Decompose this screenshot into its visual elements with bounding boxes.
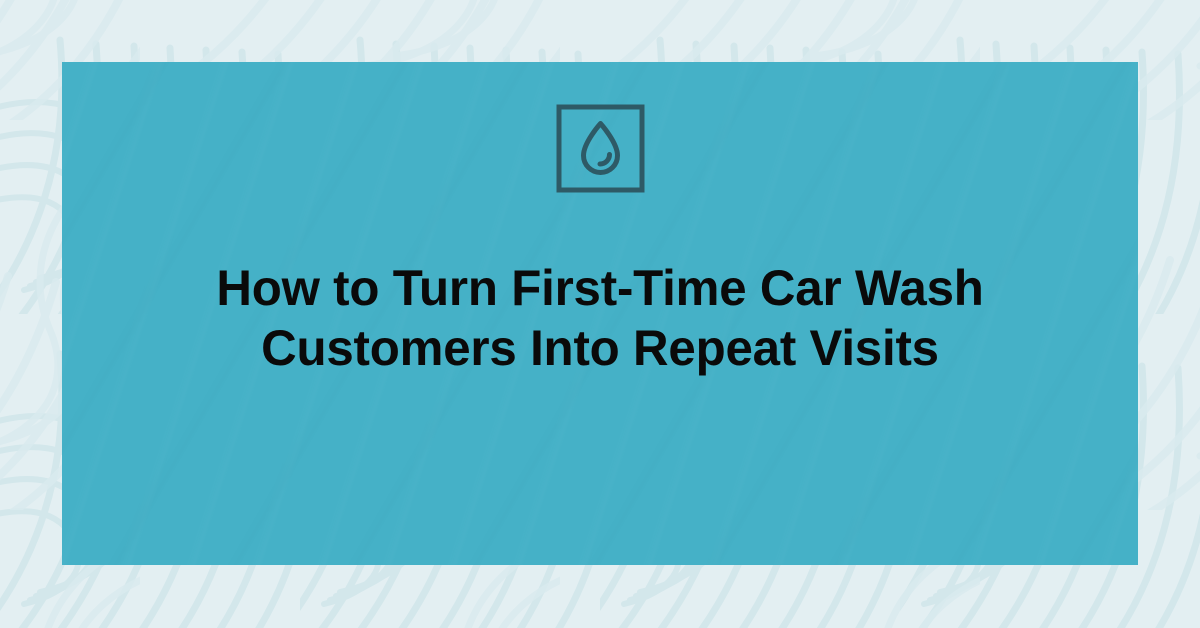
page-title-line-2: Customers Into Repeat Visits — [139, 318, 1061, 378]
page-title: How to Turn First-Time Car Wash Customer… — [62, 258, 1138, 378]
icon-block — [62, 104, 1138, 193]
droplet-inner-arc-icon — [600, 155, 610, 165]
teal-content-panel: How to Turn First-Time Car Wash Customer… — [62, 62, 1138, 565]
square-outline-icon — [559, 107, 642, 190]
panel-inner: How to Turn First-Time Car Wash Customer… — [62, 62, 1138, 565]
water-droplet-in-square-icon — [556, 104, 645, 193]
social-card-canvas: How to Turn First-Time Car Wash Customer… — [0, 0, 1200, 628]
page-title-line-1: How to Turn First-Time Car Wash — [139, 258, 1061, 318]
